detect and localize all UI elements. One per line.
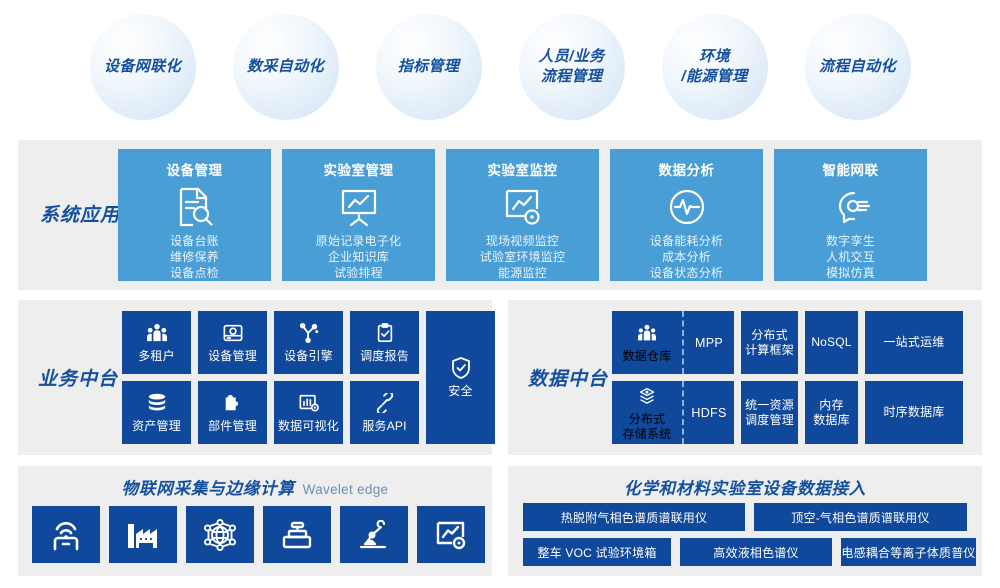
data-platform-title: 数据中台	[528, 364, 608, 391]
data-tile-in-memory-db[interactable]: 内存 数据库	[805, 381, 858, 444]
capability-circle-label: 人员/业务 流程管理	[538, 47, 604, 87]
users-group-icon	[146, 321, 168, 345]
data-tile-warehouse[interactable]: 数据仓库	[612, 311, 684, 374]
iot-edge-header: 物联网采集与边缘计算 Wavelet edge	[18, 475, 492, 499]
app-card-data-analysis[interactable]: 数据分析 设备能耗分析 成本分析 设备状态分析	[610, 149, 763, 281]
business-tile-multi-tenant[interactable]: 多租户	[122, 311, 191, 374]
data-tile-distributed-compute[interactable]: 分布式 计算框架	[741, 311, 798, 374]
data-tile-label: 内存 数据库	[813, 398, 850, 428]
system-application-title: 系统应用	[40, 200, 120, 227]
iot-edge-icons	[32, 506, 485, 563]
business-tile-column: 调度报告 服务API	[350, 311, 419, 444]
capability-circle-label: 环境 /能源管理	[681, 47, 747, 87]
business-tile-label: 设备管理	[208, 349, 257, 364]
document-search-icon	[175, 186, 215, 228]
lab-equipment-rows: 热脱附气相色谱质谱联用仪 顶空-气相色谱质谱联用仪 整车 VOC 试验环境箱 高…	[523, 503, 967, 573]
capability-circle-label: 设备网联化	[104, 57, 181, 77]
capability-circle[interactable]: 流程自动化	[805, 14, 911, 120]
data-tile-label: 分布式 存储系统	[623, 412, 672, 442]
robot-arm-icon[interactable]	[340, 506, 408, 563]
bar-chart-eye-icon	[298, 391, 320, 415]
capability-circle[interactable]: 设备网联化	[90, 14, 196, 120]
data-tile-label: 时序数据库	[883, 405, 944, 420]
business-tile-dispatch-report[interactable]: 调度报告	[350, 311, 419, 374]
iot-edge-subtitle: Wavelet edge	[303, 482, 389, 497]
app-card-desc: 数字孪生 人机交互 模拟仿真	[826, 234, 875, 282]
data-tile-column: 一站式运维 时序数据库	[865, 311, 963, 444]
sensor-device-icon[interactable]	[263, 506, 331, 563]
capability-circle[interactable]: 指标管理	[376, 14, 482, 120]
app-card-title: 数据分析	[659, 159, 715, 179]
data-tile-label: 数据仓库	[623, 349, 672, 364]
data-tile-unified-resource-scheduling[interactable]: 统一资源 调度管理	[741, 381, 798, 444]
data-tile-hdfs-label[interactable]: HDFS	[684, 381, 734, 444]
system-application-panel: 系统应用 设备管理 设备台账 维修保养 设备点检 实验室管理	[18, 140, 982, 290]
business-tile-service-api[interactable]: 服务API	[350, 381, 419, 444]
business-platform-title: 业务中台	[38, 364, 118, 391]
capability-circle[interactable]: 数采自动化	[233, 14, 339, 120]
app-card-desc: 原始记录电子化 企业知识库 试验排程	[316, 234, 401, 282]
data-platform-tiles: 数据仓库 MPP 分布式	[612, 311, 963, 444]
business-tile-label: 多租户	[138, 349, 175, 364]
data-tile-timeseries-db[interactable]: 时序数据库	[865, 381, 963, 444]
data-tile-one-stop-ops[interactable]: 一站式运维	[865, 311, 963, 374]
business-tile-column: 设备引擎 数据可视化	[274, 311, 343, 444]
lab-equipment-header: 化学和材料实验室设备数据接入	[508, 475, 982, 499]
app-card-desc: 现场视频监控 试验室环境监控 能源监控	[480, 234, 565, 282]
app-card-desc: 设备台账 维修保养 设备点检	[170, 234, 219, 282]
data-tile-distributed-storage[interactable]: 分布式 存储系统	[612, 381, 684, 444]
lab-equipment-chip[interactable]: 整车 VOC 试验环境箱	[523, 538, 671, 566]
business-tile-label: 设备引擎	[284, 349, 333, 364]
app-card-title: 智能网联	[823, 159, 879, 179]
users-group-icon	[637, 321, 657, 345]
iot-edge-title: 物联网采集与边缘计算	[122, 475, 295, 499]
device-box-icon	[222, 321, 244, 345]
data-tile-column: 数据仓库 MPP 分布式	[612, 311, 734, 444]
lab-equipment-row: 整车 VOC 试验环境箱 高效液相色谱仪 电感耦合等离子体质普仪	[523, 538, 967, 566]
business-tile-column: 设备管理 部件管理	[198, 311, 267, 444]
capability-circle-label: 数采自动化	[247, 57, 324, 77]
business-tile-label: 数据可视化	[278, 419, 339, 434]
app-card-title: 实验室监控	[488, 159, 558, 179]
data-tile-column: NoSQL 内存 数据库	[805, 311, 858, 444]
business-tile-label: 安全	[448, 384, 472, 399]
lab-equipment-chip[interactable]: 高效液相色谱仪	[680, 538, 832, 566]
business-platform-panel: 业务中台 多租户	[18, 300, 492, 455]
app-card-desc: 设备能耗分析 成本分析 设备状态分析	[650, 234, 723, 282]
monitor-chart-icon[interactable]	[417, 506, 485, 563]
database-stack-icon	[146, 391, 168, 415]
data-tile-label: 一站式运维	[883, 335, 944, 350]
wifi-gateway-icon[interactable]	[32, 506, 100, 563]
app-card-intelligent-connectivity[interactable]: 智能网联 数字孪生 人机交互 模拟仿真	[774, 149, 927, 281]
architecture-diagram: 设备网联化 数采自动化 指标管理 人员/业务 流程管理 环境 /能源管理 流程自…	[0, 0, 1000, 588]
plug-connect-icon	[374, 391, 396, 415]
clipboard-check-icon	[375, 321, 395, 345]
pulse-circle-icon	[666, 186, 708, 228]
cube-layers-icon	[637, 384, 657, 408]
data-tile-warehouse-mpp[interactable]: 数据仓库 MPP	[612, 311, 734, 374]
ai-head-icon	[830, 186, 872, 228]
app-card-title: 设备管理	[167, 159, 223, 179]
data-tile-label: 分布式 计算框架	[745, 328, 794, 358]
app-card-lab-management[interactable]: 实验室管理 原始记录电子化 企业知识库 试验排程	[282, 149, 435, 281]
data-tile-label: NoSQL	[811, 335, 851, 350]
app-card-title: 实验室管理	[324, 159, 394, 179]
business-tile-device-engine[interactable]: 设备引擎	[274, 311, 343, 374]
app-card-device-management[interactable]: 设备管理 设备台账 维修保养 设备点检	[118, 149, 271, 281]
lab-equipment-title: 化学和材料实验室设备数据接入	[624, 475, 866, 499]
business-tile-label: 资产管理	[132, 419, 181, 434]
system-application-cards: 设备管理 设备台账 维修保养 设备点检 实验室管理	[118, 149, 927, 281]
lab-equipment-chip[interactable]: 顶空-气相色谱质谱联用仪	[754, 503, 967, 531]
data-tile-label: 统一资源 调度管理	[745, 398, 794, 428]
lab-equipment-row: 热脱附气相色谱质谱联用仪 顶空-气相色谱质谱联用仪	[523, 503, 967, 531]
puzzle-piece-icon	[222, 391, 244, 415]
capability-circles-row: 设备网联化 数采自动化 指标管理 人员/业务 流程管理 环境 /能源管理 流程自…	[0, 0, 1000, 133]
data-tile-mpp-label[interactable]: MPP	[684, 311, 734, 374]
monitor-chart-icon	[502, 186, 544, 228]
shield-check-icon	[450, 356, 472, 380]
presentation-chart-icon	[338, 186, 380, 228]
business-tile-label: 服务API	[362, 419, 406, 434]
app-card-lab-monitoring[interactable]: 实验室监控 现场视频监控 试验室环境监控 能源监控	[446, 149, 599, 281]
data-platform-panel: 数据中台 数据仓库	[508, 300, 982, 455]
data-tile-nosql[interactable]: NoSQL	[805, 311, 858, 374]
capability-circle[interactable]: 人员/业务 流程管理	[519, 14, 625, 120]
lab-equipment-chip[interactable]: 热脱附气相色谱质谱联用仪	[523, 503, 745, 531]
factory-icon[interactable]	[109, 506, 177, 563]
business-tile-security[interactable]: 安全	[426, 311, 495, 444]
data-tile-column: 分布式 计算框架 统一资源 调度管理	[741, 311, 798, 444]
business-platform-tiles: 多租户 资产管理	[122, 311, 495, 444]
business-tile-label: 调度报告	[360, 349, 409, 364]
business-tile-data-visualization[interactable]: 数据可视化	[274, 381, 343, 444]
network-globe-icon[interactable]	[186, 506, 254, 563]
business-tile-device-management[interactable]: 设备管理	[198, 311, 267, 374]
node-branch-icon	[298, 321, 320, 345]
business-tile-asset-management[interactable]: 资产管理	[122, 381, 191, 444]
iot-edge-panel: 物联网采集与边缘计算 Wavelet edge	[18, 466, 492, 576]
data-tile-storage-hdfs[interactable]: 分布式 存储系统 HDFS	[612, 381, 734, 444]
capability-circle-label: 指标管理	[398, 57, 460, 77]
business-tile-component-management[interactable]: 部件管理	[198, 381, 267, 444]
lab-equipment-chip[interactable]: 电感耦合等离子体质普仪	[841, 538, 976, 566]
capability-circle-label: 流程自动化	[819, 57, 896, 77]
business-tile-label: 部件管理	[208, 419, 257, 434]
capability-circle[interactable]: 环境 /能源管理	[662, 14, 768, 120]
lab-equipment-panel: 化学和材料实验室设备数据接入 热脱附气相色谱质谱联用仪 顶空-气相色谱质谱联用仪…	[508, 466, 982, 576]
business-tile-column: 多租户 资产管理	[122, 311, 191, 444]
